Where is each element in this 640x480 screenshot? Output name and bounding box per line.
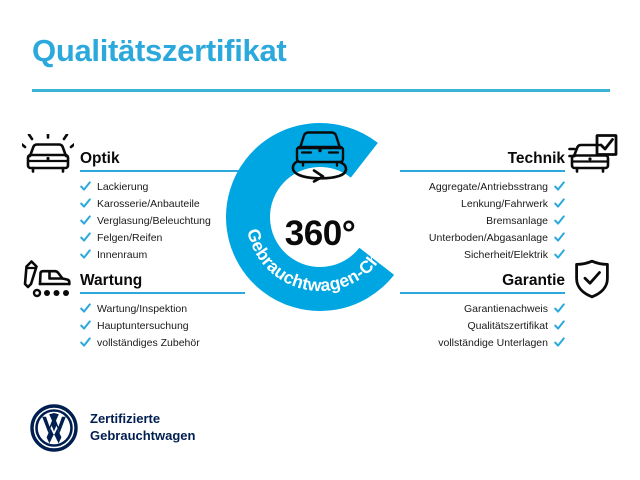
section-header-technik: Technik (400, 140, 565, 170)
check-icon (80, 181, 91, 192)
footer-line-2: Gebrauchtwagen (90, 428, 195, 445)
check-icon (80, 249, 91, 260)
list-item: Garantienachweis (400, 300, 565, 317)
360-check-badge: Gebrauchtwagen-Check 360° (221, 118, 419, 316)
list-item: vollständiges Zubehör (80, 334, 245, 351)
list-item-label: Felgen/Reifen (97, 232, 162, 244)
check-icon (554, 198, 565, 209)
list-item-label: vollständiges Zubehör (97, 337, 200, 349)
list-item-label: Lenkung/Fahrwerk (461, 198, 548, 210)
list-item-label: Verglasung/Beleuchtung (97, 215, 211, 227)
check-icon (80, 337, 91, 348)
check-icon (80, 215, 91, 226)
check-icon (80, 303, 91, 314)
badge-degrees-label: 360° (221, 214, 419, 254)
check-icon (554, 249, 565, 260)
header-divider (32, 89, 610, 92)
section-title-wartung: Wartung (80, 272, 142, 290)
list-item-label: Sicherheit/Elektrik (464, 249, 548, 261)
volkswagen-logo (30, 404, 78, 452)
check-icon (554, 320, 565, 331)
car-shine-icon (22, 134, 74, 174)
list-item-label: Garantienachweis (464, 303, 548, 315)
section-header-garantie: Garantie (400, 262, 565, 292)
footer-text: Zertifizierte Gebrauchtwagen (90, 411, 195, 445)
car-checkbox-icon (566, 134, 618, 174)
section-garantie: Garantie Garantienachweis Qualitätszerti… (400, 262, 565, 292)
list-item: Unterboden/Abgasanlage (400, 229, 565, 246)
section-divider-garantie (400, 292, 565, 294)
list-item-label: vollständige Unterlagen (438, 337, 548, 349)
list-item: Hauptuntersuchung (80, 317, 245, 334)
page-title: Qualitätszertifikat (32, 33, 286, 69)
car-rotation-icon (282, 124, 358, 186)
list-item: Sicherheit/Elektrik (400, 246, 565, 263)
list-item: Lenkung/Fahrwerk (400, 195, 565, 212)
list-item-label: Bremsanlage (486, 215, 548, 227)
list-item-label: Qualitätszertifikat (467, 320, 548, 332)
checklist-technik: Aggregate/Antriebsstrang Lenkung/Fahrwer… (400, 178, 565, 263)
check-icon (554, 232, 565, 243)
check-icon (554, 337, 565, 348)
section-title-technik: Technik (508, 150, 565, 168)
qualitaetszertifikat-page: Qualitätszertifikat Optik Lackierung Kar… (0, 0, 640, 480)
list-item: vollständige Unterlagen (400, 334, 565, 351)
section-divider-technik (400, 170, 565, 172)
check-icon (554, 215, 565, 226)
list-item: Qualitätszertifikat (400, 317, 565, 334)
list-item-label: Karosserie/Anbauteile (97, 198, 200, 210)
footer-line-1: Zertifizierte (90, 411, 195, 428)
check-icon (80, 198, 91, 209)
list-item-label: Unterboden/Abgasanlage (429, 232, 548, 244)
shield-check-icon (572, 259, 612, 299)
list-item-label: Lackierung (97, 181, 148, 193)
check-icon (554, 181, 565, 192)
list-item-label: Innenraum (97, 249, 147, 261)
section-title-optik: Optik (80, 150, 120, 168)
service-book-pen-car-icon (22, 258, 74, 298)
check-icon (554, 303, 565, 314)
list-item-label: Wartung/Inspektion (97, 303, 187, 315)
check-icon (80, 232, 91, 243)
checklist-garantie: Garantienachweis Qualitätszertifikat vol… (400, 300, 565, 351)
list-item: Aggregate/Antriebsstrang (400, 178, 565, 195)
list-item-label: Hauptuntersuchung (97, 320, 189, 332)
list-item: Bremsanlage (400, 212, 565, 229)
check-icon (80, 320, 91, 331)
list-item-label: Aggregate/Antriebsstrang (429, 181, 548, 193)
section-technik: Technik Aggregate/Antriebsstrang Lenkung… (400, 140, 565, 170)
footer-brand-lockup: Zertifizierte Gebrauchtwagen (30, 404, 195, 452)
section-title-garantie: Garantie (502, 272, 565, 290)
